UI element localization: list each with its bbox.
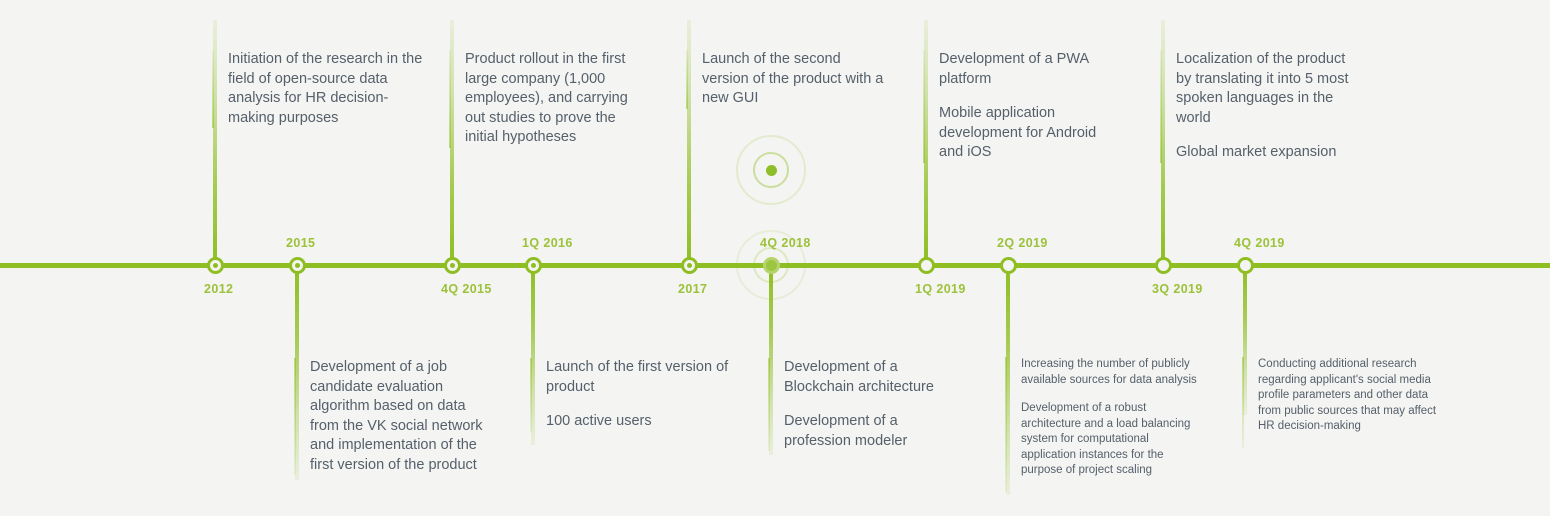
milestone-content-3q2019: Localization of the product by translati… <box>1160 50 1350 163</box>
milestone-text: Launch of the first version of product <box>546 358 745 397</box>
milestone-content-4q2018: Development of a Blockchain architecture… <box>768 358 953 451</box>
milestone-text: 100 active users <box>546 412 745 432</box>
milestone-node-4q2019[interactable] <box>1237 257 1254 274</box>
milestone-text: Launch of the second version of the prod… <box>702 50 886 109</box>
milestone-date-2015: 2015 <box>286 236 315 250</box>
cursor-pulse-icon <box>736 135 806 205</box>
milestone-text: Mobile application development for Andro… <box>939 104 1113 163</box>
milestone-node-2q2019[interactable] <box>1000 257 1017 274</box>
milestone-content-2q2019: Increasing the number of publicly availa… <box>1005 357 1203 492</box>
milestone-text: Global market expansion <box>1176 143 1350 163</box>
milestone-text: Initiation of the research in the field … <box>228 50 427 128</box>
milestone-content-1q2019: Development of a PWA platform Mobile app… <box>923 50 1113 163</box>
milestone-node-2017[interactable] <box>681 257 698 274</box>
milestone-date-1q2019: 1Q 2019 <box>915 282 966 296</box>
milestone-node-1q2019[interactable] <box>918 257 935 274</box>
milestone-content-4q2015: Product rollout in the first large compa… <box>449 50 649 148</box>
milestone-text: Development of a PWA platform <box>939 50 1113 89</box>
milestone-content-1q2016: Launch of the first version of product 1… <box>530 358 745 432</box>
milestone-text: Development of a job candidate evaluatio… <box>310 358 494 475</box>
milestone-text: Development of a profession modeler <box>784 412 953 451</box>
milestone-node-2012[interactable] <box>207 257 224 274</box>
milestone-text: Product rollout in the first large compa… <box>465 50 649 148</box>
milestone-node-2015[interactable] <box>289 257 306 274</box>
timeline-diagram: 2012 Initiation of the research in the f… <box>0 0 1550 516</box>
milestone-content-4q2019: Conducting additional research regarding… <box>1242 357 1452 448</box>
milestone-date-3q2019: 3Q 2019 <box>1152 282 1203 296</box>
milestone-node-3q2019[interactable] <box>1155 257 1172 274</box>
milestone-node-4q2018[interactable] <box>763 257 780 274</box>
milestone-date-4q2019: 4Q 2019 <box>1234 236 1285 250</box>
milestone-content-2017: Launch of the second version of the prod… <box>686 50 886 109</box>
milestone-date-2012: 2012 <box>204 282 233 296</box>
milestone-node-4q2015[interactable] <box>444 257 461 274</box>
milestone-date-4q2015: 4Q 2015 <box>441 282 492 296</box>
milestone-date-2q2019: 2Q 2019 <box>997 236 1048 250</box>
milestone-text: Conducting additional research regarding… <box>1258 357 1452 435</box>
milestone-date-2017: 2017 <box>678 282 707 296</box>
milestone-text: Localization of the product by translati… <box>1176 50 1350 128</box>
milestone-text: Development of a robust architecture and… <box>1021 401 1203 479</box>
milestone-text: Development of a Blockchain architecture <box>784 358 953 397</box>
milestone-content-2012: Initiation of the research in the field … <box>212 50 427 128</box>
milestone-text: Increasing the number of publicly availa… <box>1021 357 1203 388</box>
milestone-date-1q2016: 1Q 2016 <box>522 236 573 250</box>
milestone-node-1q2016[interactable] <box>525 257 542 274</box>
milestone-content-2015: Development of a job candidate evaluatio… <box>294 358 494 475</box>
